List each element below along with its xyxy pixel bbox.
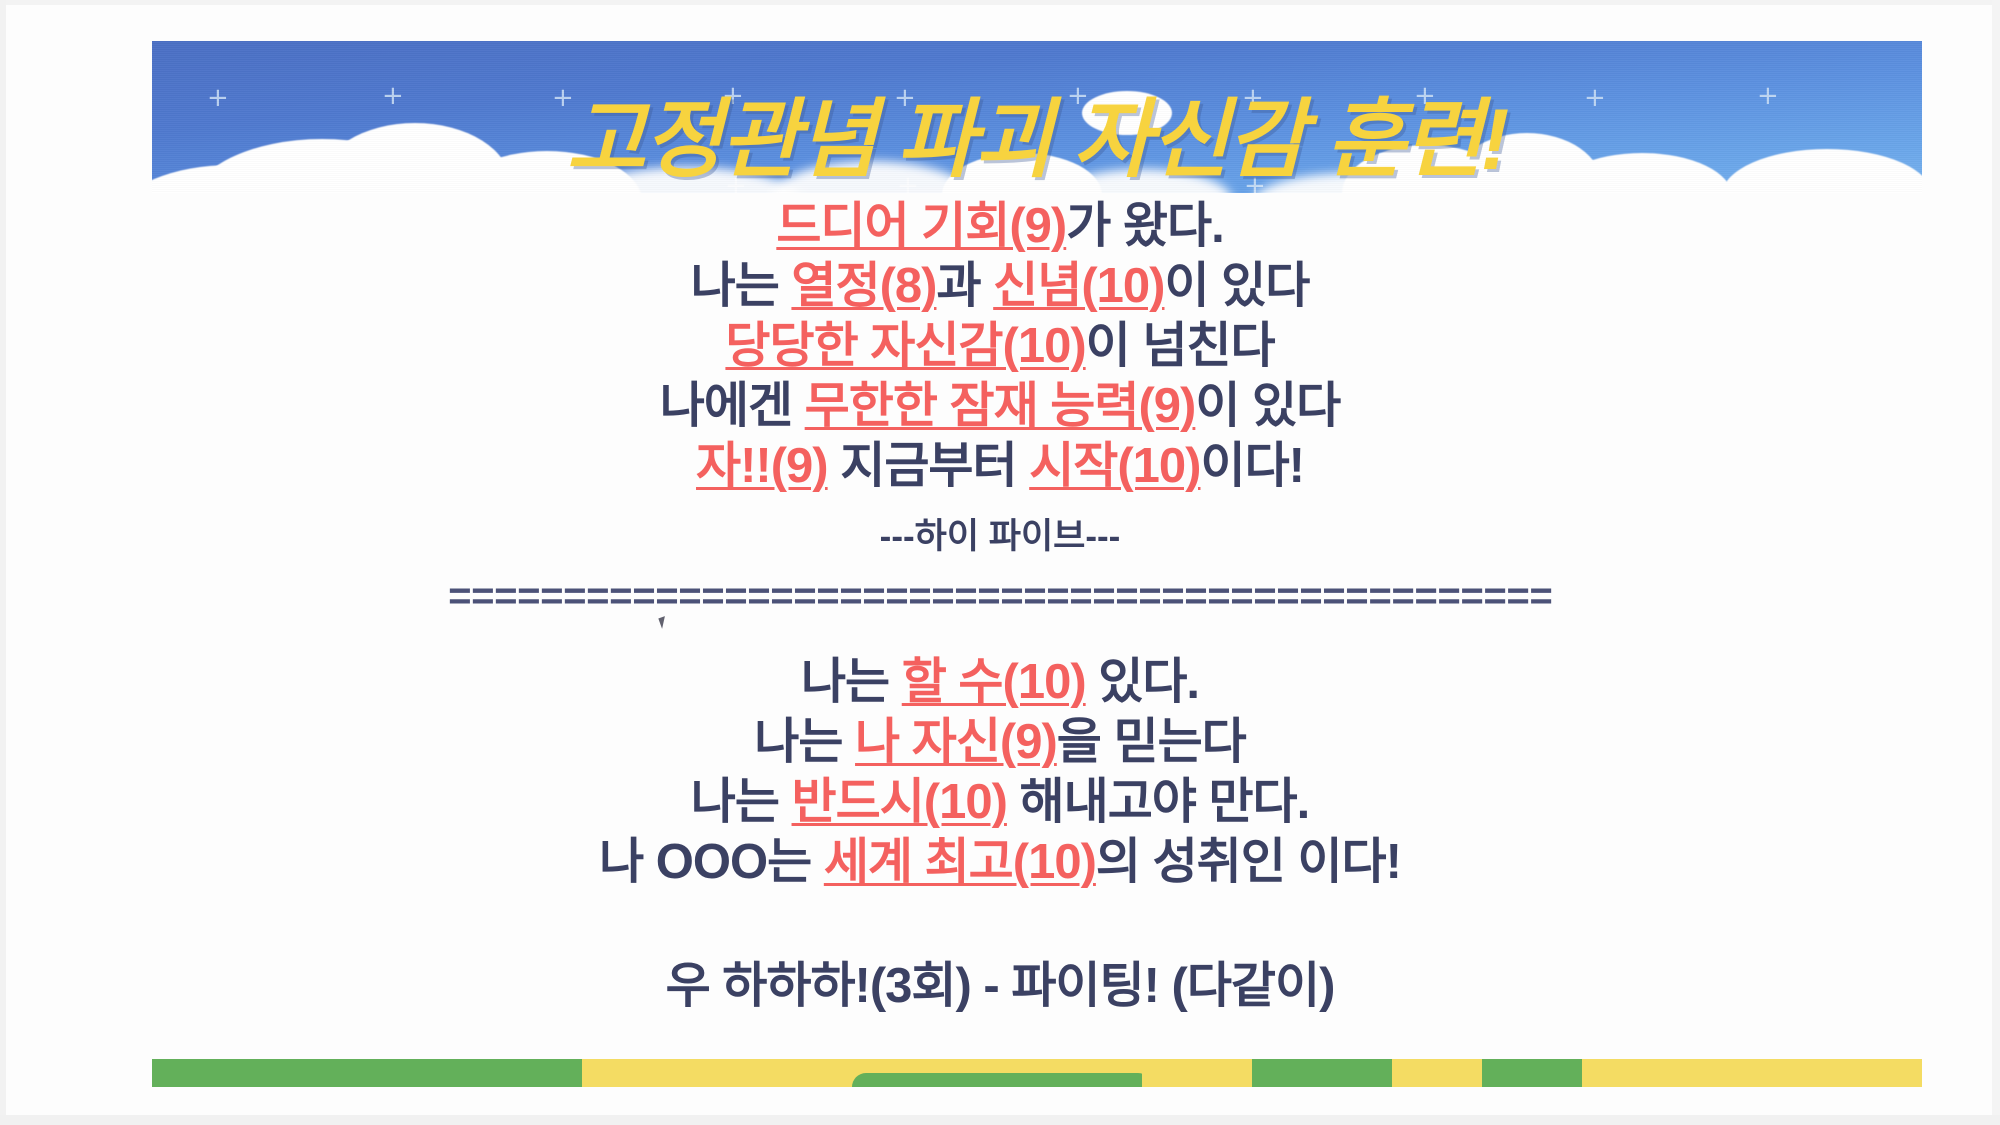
affirmation-line: 나는 열정(8)과 신념(10)이 있다 — [0, 256, 2000, 316]
plain-text: 나는 — [754, 715, 855, 769]
section-divider: ========================================… — [0, 578, 2000, 622]
plain-text: 해내고야 만다. — [1007, 775, 1309, 829]
emphasis-phrase: 신념(10) — [993, 259, 1164, 313]
closing-chant: 우 하하하!(3회) - 파이팅! (다같이) — [0, 956, 2000, 1016]
plain-text: 이 넘친다 — [1086, 319, 1275, 373]
footer-green-band — [852, 1073, 1152, 1087]
content-body: 드디어 기회(9)가 왔다. 나는 열정(8)과 신념(10)이 있다 당당한 … — [0, 196, 2000, 1016]
affirmation-line: 나에겐 무한한 잠재 능력(9)이 있다 — [0, 376, 2000, 436]
emphasis-phrase: 반드시(10) — [792, 775, 1007, 829]
affirmation-line: 나는 할 수(10) 있다. — [0, 652, 2000, 712]
emphasis-phrase: 세계 최고(10) — [824, 835, 1096, 889]
plain-text: 나는 — [691, 259, 792, 313]
emphasis-phrase: 나 자신(9) — [855, 715, 1057, 769]
plain-text: 나는 — [801, 655, 902, 709]
high-five-note: ---하이 파이브--- — [0, 510, 2000, 564]
affirmation-line: 나는 나 자신(9)을 믿는다 — [0, 712, 2000, 772]
emphasis-phrase: 드디어 기회(9) — [776, 199, 1066, 253]
plain-text: 을 믿는다 — [1057, 715, 1246, 769]
emphasis-phrase: 자!!(9) — [696, 439, 828, 493]
plain-text: 과 — [936, 259, 993, 313]
footer-yellow-band — [1582, 1059, 1922, 1087]
affirmation-line: 자!!(9) 지금부터 시작(10)이다! — [0, 436, 2000, 496]
plain-text: 의 성취인 이다! — [1096, 835, 1401, 889]
emphasis-phrase: 무한한 잠재 능력(9) — [805, 379, 1196, 433]
spacer — [0, 892, 2000, 956]
footer-decoration-bar — [152, 1059, 1922, 1087]
spacer — [0, 564, 2000, 578]
emphasis-phrase: 시작(10) — [1029, 439, 1200, 493]
plain-text: 이 있다 — [1195, 379, 1340, 433]
page-title: 고정관념 파괴 자신감 훈련! — [152, 69, 1922, 193]
emphasis-phrase: 열정(8) — [791, 259, 936, 313]
plain-text: 나는 — [691, 775, 792, 829]
affirmation-line: 드디어 기회(9)가 왔다. — [0, 196, 2000, 256]
plain-text: 이다! — [1201, 439, 1304, 493]
spacer — [0, 496, 2000, 510]
scan-edge-top — [0, 0, 2000, 5]
footer-green-band — [152, 1059, 582, 1087]
plain-text: 이 있다 — [1164, 259, 1309, 313]
emphasis-phrase: 당당한 자신감(10) — [725, 319, 1085, 373]
plain-text: 나 OOO는 — [599, 835, 824, 889]
spacer — [0, 622, 2000, 652]
emphasis-phrase: 할 수(10) — [902, 655, 1086, 709]
affirmation-line: 당당한 자신감(10)이 넘친다 — [0, 316, 2000, 376]
plain-text: 있다. — [1086, 655, 1199, 709]
plain-text: 나에겐 — [660, 379, 805, 433]
header-banner: + + + + + + + + + + + + + + + + + 고정관 — [152, 41, 1922, 193]
poster-page: + + + + + + + + + + + + + + + + + 고정관 — [0, 0, 2000, 1125]
plain-text: 지금부터 — [828, 439, 1030, 493]
affirmation-line: 나 OOO는 세계 최고(10)의 성취인 이다! — [0, 832, 2000, 892]
affirmation-line: 나는 반드시(10) 해내고야 만다. — [0, 772, 2000, 832]
plain-text: 가 왔다. — [1066, 199, 1223, 253]
scan-edge-bottom — [0, 1115, 2000, 1125]
